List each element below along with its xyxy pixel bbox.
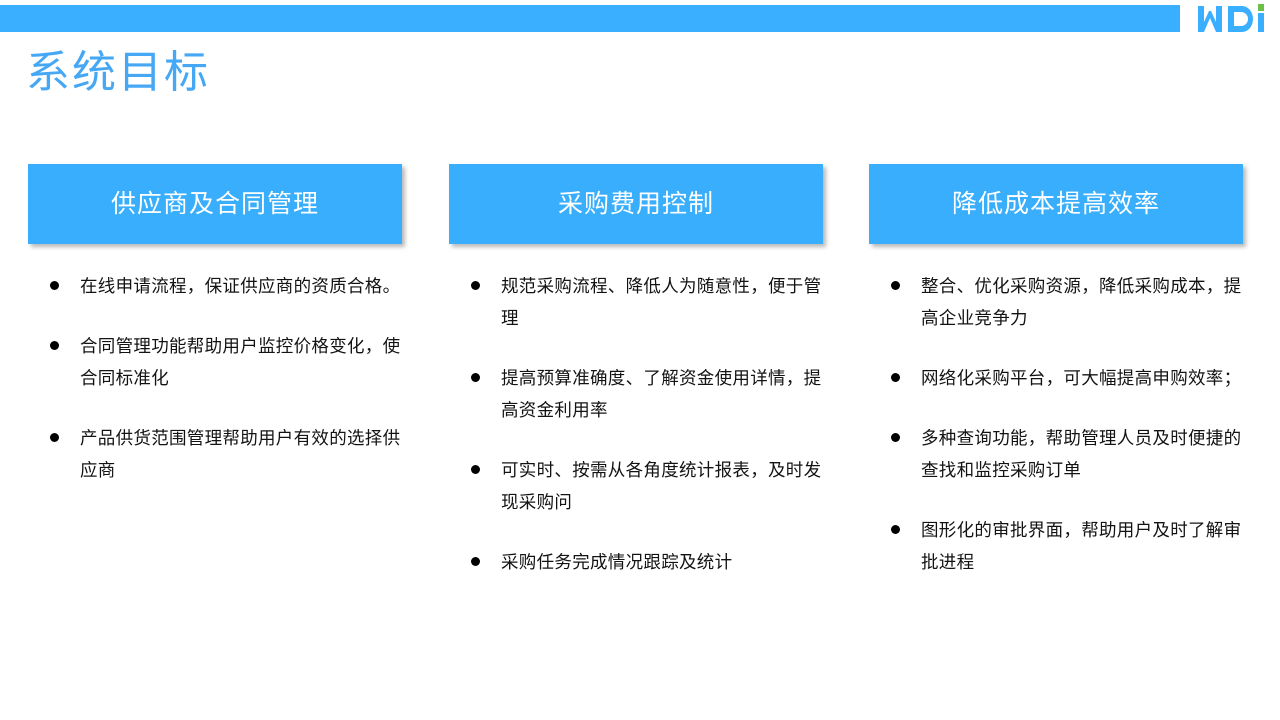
bullet-text: 图形化的审批界面，帮助用户及时了解审批进程 (921, 514, 1243, 578)
column-header-label: 降低成本提高效率 (952, 189, 1160, 219)
column-header-3: 降低成本提高效率 (869, 164, 1243, 244)
column-header-2: 采购费用控制 (449, 164, 823, 244)
column-cost-reduction-efficiency: 降低成本提高效率 整合、优化采购资源，降低采购成本，提高企业竞争力 网络化采购平… (869, 164, 1243, 578)
list-item: 采购任务完成情况跟踪及统计 (449, 546, 823, 578)
bullet-dot-icon (891, 373, 900, 382)
bullet-dot-icon (471, 557, 480, 566)
bullet-dot-icon (891, 433, 900, 442)
column-purchase-cost-control: 采购费用控制 规范采购流程、降低人为随意性，便于管理 提高预算准确度、了解资金使… (449, 164, 823, 578)
list-item: 提高预算准确度、了解资金使用详情，提高资金利用率 (449, 362, 823, 426)
bullet-text: 规范采购流程、降低人为随意性，便于管理 (501, 270, 823, 334)
bullet-text: 多种查询功能，帮助管理人员及时便捷的查找和监控采购订单 (921, 422, 1243, 486)
list-item: 整合、优化采购资源，降低采购成本，提高企业竞争力 (869, 270, 1243, 334)
bullet-text: 合同管理功能帮助用户监控价格变化，使合同标准化 (80, 330, 402, 394)
column-header-1: 供应商及合同管理 (28, 164, 402, 244)
bullet-dot-icon (471, 281, 480, 290)
bullet-dot-icon (50, 281, 59, 290)
bullet-list-1: 在线申请流程，保证供应商的资质合格。 合同管理功能帮助用户监控价格变化，使合同标… (28, 270, 402, 486)
bullet-dot-icon (891, 525, 900, 534)
column-supplier-contract: 供应商及合同管理 在线申请流程，保证供应商的资质合格。 合同管理功能帮助用户监控… (28, 164, 402, 486)
column-header-label: 供应商及合同管理 (111, 189, 319, 219)
wdi-logo (1196, 2, 1272, 36)
bullet-dot-icon (50, 433, 59, 442)
bullet-list-2: 规范采购流程、降低人为随意性，便于管理 提高预算准确度、了解资金使用详情，提高资… (449, 270, 823, 578)
header-accent-bar (0, 5, 1180, 32)
bullet-dot-icon (891, 281, 900, 290)
bullet-text: 可实时、按需从各角度统计报表，及时发现采购问 (501, 454, 823, 518)
bullet-text: 采购任务完成情况跟踪及统计 (501, 546, 823, 578)
bullet-text: 提高预算准确度、了解资金使用详情，提高资金利用率 (501, 362, 823, 426)
list-item: 合同管理功能帮助用户监控价格变化，使合同标准化 (28, 330, 402, 394)
list-item: 产品供货范围管理帮助用户有效的选择供应商 (28, 422, 402, 486)
bullet-dot-icon (471, 373, 480, 382)
page-title: 系统目标 (26, 44, 210, 102)
slide-root: 系统目标 供应商及合同管理 在线申请流程，保证供应商的资质合格。 合同管理功能帮… (0, 0, 1280, 720)
bullet-dot-icon (471, 465, 480, 474)
list-item: 图形化的审批界面，帮助用户及时了解审批进程 (869, 514, 1243, 578)
bullet-list-3: 整合、优化采购资源，降低采购成本，提高企业竞争力 网络化采购平台，可大幅提高申购… (869, 270, 1243, 578)
bullet-text: 网络化采购平台，可大幅提高申购效率； (921, 362, 1243, 394)
bullet-text: 产品供货范围管理帮助用户有效的选择供应商 (80, 422, 402, 486)
bullet-dot-icon (50, 341, 59, 350)
list-item: 规范采购流程、降低人为随意性，便于管理 (449, 270, 823, 334)
list-item: 网络化采购平台，可大幅提高申购效率； (869, 362, 1243, 394)
list-item: 可实时、按需从各角度统计报表，及时发现采购问 (449, 454, 823, 518)
column-header-label: 采购费用控制 (558, 189, 714, 219)
list-item: 多种查询功能，帮助管理人员及时便捷的查找和监控采购订单 (869, 422, 1243, 486)
bullet-text: 整合、优化采购资源，降低采购成本，提高企业竞争力 (921, 270, 1243, 334)
bullet-text: 在线申请流程，保证供应商的资质合格。 (80, 270, 402, 302)
list-item: 在线申请流程，保证供应商的资质合格。 (28, 270, 402, 302)
